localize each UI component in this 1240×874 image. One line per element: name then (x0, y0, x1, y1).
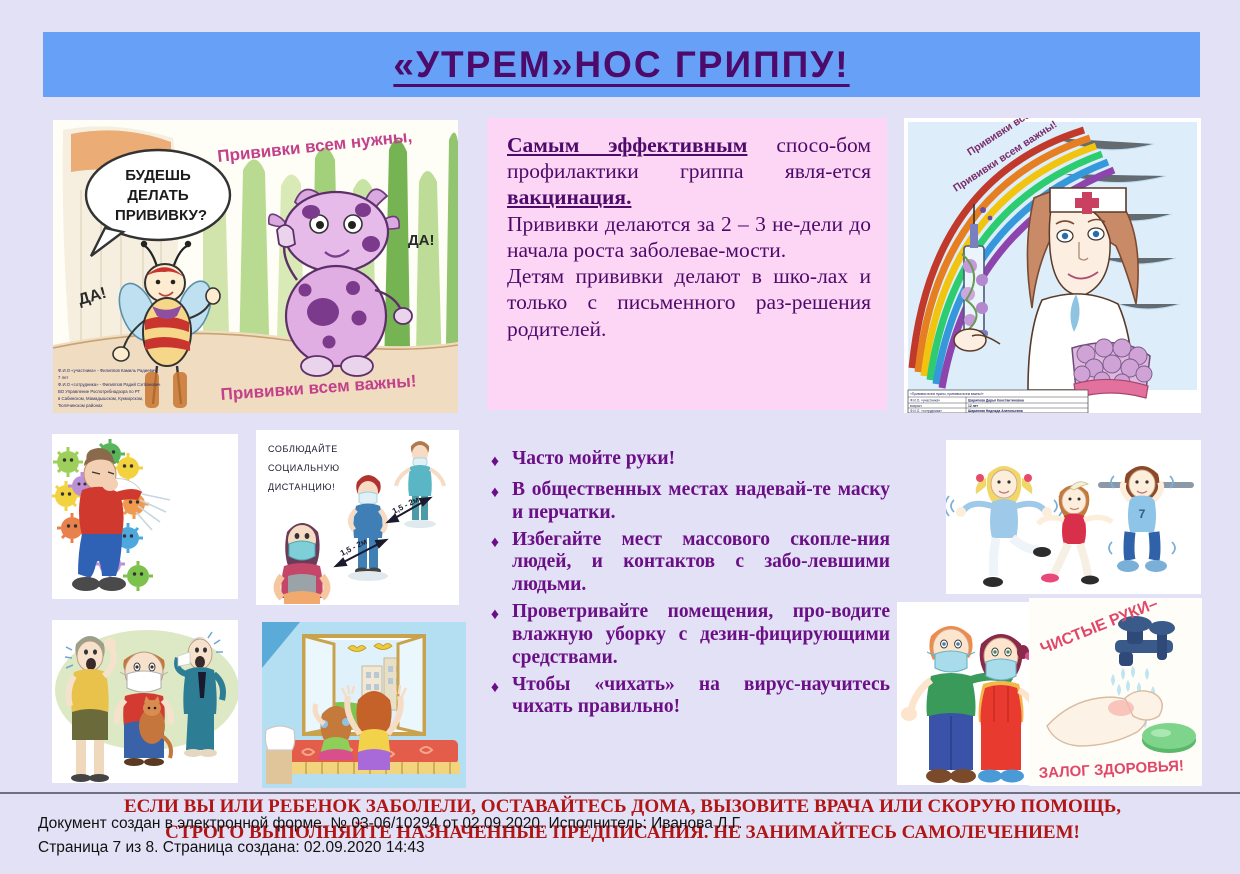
tip-text: Проветривайте помещения, про-водите влаж… (512, 601, 890, 669)
svg-text:ДА!: ДА! (408, 232, 435, 249)
svg-text:Ф.И.О «участника» ‑ Филиппов: Ф.И.О «участника» ‑ Филиппов Камиль Ради… (58, 368, 157, 373)
doc-meta-line-1: Документ создан в электронной форме. № 0… (38, 812, 742, 836)
tip-text: Часто мойте руки! (512, 448, 890, 475)
distance-heading-2: СОЦИАЛЬНУЮ (268, 463, 340, 473)
svg-text:ПРИВИВКУ?: ПРИВИВКУ? (115, 207, 207, 224)
svg-text:Шарипова Надежда Анатольевна: Шарипова Надежда Анатольевна (968, 409, 1023, 413)
diamond-bullet-icon: ♦ (478, 674, 512, 720)
svg-text:«Прививки всем нужны, прививки: «Прививки всем нужны, прививки всем важн… (910, 392, 984, 396)
svg-text:ДЕЛАТЬ: ДЕЛАТЬ (127, 187, 188, 204)
illustration-clean-hands-poster: ЧИСТЫЕ РУКИ– ЗАЛОГ ЗДОРОВЬЯ! (1029, 598, 1202, 786)
page-title: «УТРЕМ»НОС ГРИППУ! (393, 44, 849, 86)
illustration-bee-drawing: БУДЕШЬ ДЕЛАТЬ ПРИВИВКУ? Прививки всем ну… (53, 120, 458, 413)
svg-text:возраст: возраст (910, 404, 922, 408)
emphasis-vaccination: вакцинация. (507, 185, 631, 209)
prevention-tips-list: ♦ Часто мойте руки! ♦ В общественных мес… (478, 448, 890, 723)
svg-text:в Сабинском, Мамадышском, Кукм: в Сабинском, Мамадышском, Кукморском, (58, 396, 143, 401)
document-page: «УТРЕМ»НОС ГРИППУ! (0, 0, 1240, 874)
illustration-nurse-drawing: Прививки всем нужны, Прививки всем важны… (904, 118, 1201, 413)
svg-text:ВО Управление Роспотребнадзора: ВО Управление Роспотребнадзора по РТ (58, 389, 140, 394)
emphasis-most-effective: Самым эффективным (507, 133, 747, 157)
svg-text:7: 7 (1139, 507, 1146, 521)
tip-text: В общественных местах надевай-те маску и… (512, 479, 890, 525)
illustration-airing-room (262, 622, 466, 788)
svg-text:БУДЕШЬ: БУДЕШЬ (125, 167, 191, 184)
doc-meta-line-2: Страница 7 из 8. Страница создана: 02.09… (38, 836, 742, 860)
illustration-social-distance: СОБЛЮДАЙТЕ СОЦИАЛЬНУЮ ДИСТАНЦИЮ! (256, 430, 459, 605)
illustration-sneeze-viruses (52, 434, 238, 599)
distance-heading-1: СОБЛЮДАЙТЕ (268, 443, 338, 454)
list-item: ♦ Избегайте мест массового скопле-ния лю… (478, 529, 890, 597)
distance-heading-3: ДИСТАНЦИЮ! (268, 482, 335, 492)
vaccine-paragraph-1: Самым эффективным спосо-бом профилактики… (507, 132, 871, 211)
diamond-bullet-icon: ♦ (478, 448, 512, 475)
vaccine-info-box: Самым эффективным спосо-бом профилактики… (487, 118, 887, 410)
diamond-bullet-icon: ♦ (478, 529, 512, 597)
illustration-kids-exercise: 7 (946, 440, 1201, 594)
diamond-bullet-icon: ♦ (478, 601, 512, 669)
illustration-sick-family (52, 620, 238, 783)
list-item: ♦ Проветривайте помещения, про-водите вл… (478, 601, 890, 669)
svg-text:Шарипова Дарья Константиновна: Шарипова Дарья Константиновна (968, 399, 1024, 403)
tip-text: Чтобы «чихать» на вирус-научитесь чихать… (512, 674, 890, 720)
svg-text:Тюлячинском районах: Тюлячинском районах (58, 403, 103, 408)
vaccine-paragraph-3: Детям прививки делают в шко-лах и только… (507, 263, 871, 342)
svg-text:7 лет: 7 лет (58, 375, 68, 380)
svg-text:Ф.И.О. «сотрудника»: Ф.И.О. «сотрудника» (910, 409, 942, 413)
svg-text:Ф.И.О «сотрудника» ‑ Филиппов: Ф.И.О «сотрудника» ‑ Филиппов Радий Сэгб… (58, 382, 160, 387)
svg-text:Ф.И.О. «участника»: Ф.И.О. «участника» (910, 399, 940, 403)
svg-text:12 лет: 12 лет (968, 404, 978, 408)
illustration-masked-kids (897, 602, 1045, 785)
title-banner: «УТРЕМ»НОС ГРИППУ! (43, 32, 1200, 97)
vaccine-paragraph-2: Прививки делаются за 2 – 3 не-дели до на… (507, 211, 871, 263)
document-metadata: Документ создан в электронной форме. № 0… (38, 812, 742, 860)
list-item: ♦ Чтобы «чихать» на вирус-научитесь чиха… (478, 674, 890, 720)
list-item: ♦ В общественных местах надевай-те маску… (478, 479, 890, 525)
diamond-bullet-icon: ♦ (478, 479, 512, 525)
tip-text: Избегайте мест массового скопле-ния люде… (512, 529, 890, 597)
list-item: ♦ Часто мойте руки! (478, 448, 890, 475)
